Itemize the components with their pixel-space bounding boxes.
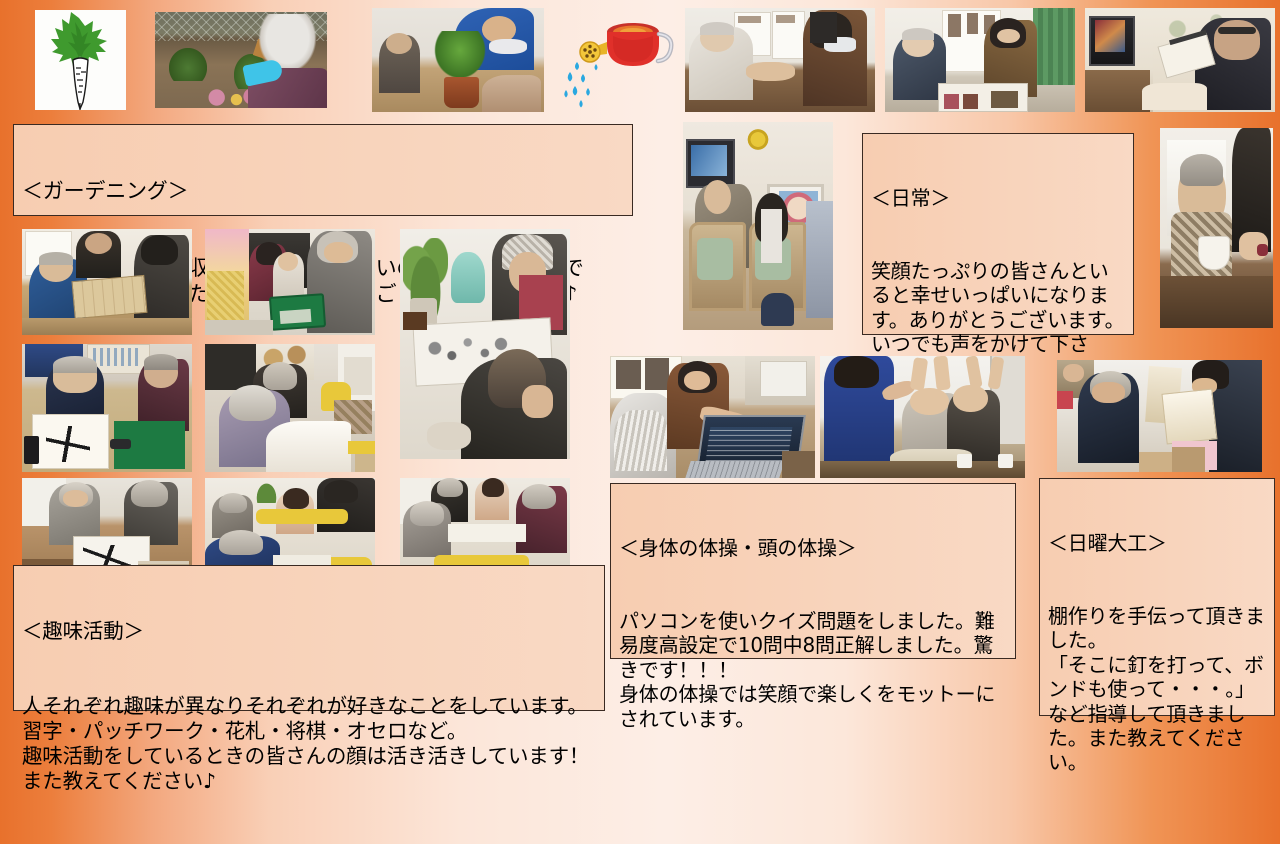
photo-hobby-patchwork <box>205 344 375 472</box>
photo-garden-watering <box>155 12 327 108</box>
photo-care-reading <box>1085 8 1275 112</box>
textbox-nichijou: ＜日常＞ 笑顔たっぷりの皆さんといると幸せいっぱいになります。ありがとうございま… <box>862 133 1134 335</box>
textbox-shumi-body: 人それぞれ趣味が異なりそれぞれが好きなことをしています。習字・パッチワーク・花札… <box>22 694 598 794</box>
photo-care-photobook <box>885 8 1075 112</box>
photo-potting-plant <box>372 8 544 112</box>
textbox-gardening-heading: ＜ガーデニング＞ <box>22 179 626 205</box>
textbox-taisou-body: パソコンを使いクイズ問題をしました。難易度高設定で10問中8問正解しました。驚き… <box>619 609 1009 731</box>
textbox-shumi: ＜趣味活動＞ 人それぞれ趣味が異なりそれぞれが好きなことをしています。習字・パッ… <box>13 565 605 711</box>
photo-tv-watching <box>683 122 833 330</box>
photo-hobby-calligraphy <box>22 344 192 472</box>
photo-arm-exercise <box>820 356 1025 478</box>
photo-care-handshake <box>685 8 875 112</box>
textbox-daiku-heading: ＜日曜大工＞ <box>1048 531 1268 555</box>
textbox-daiku-body: 棚作りを手伝って頂きました。 「そこに釘を打って、ボンドも使って・・・。」など指… <box>1048 604 1268 775</box>
photo-watering-can-clipart <box>563 12 675 110</box>
textbox-taisou-heading: ＜身体の体操・頭の体操＞ <box>619 536 1009 560</box>
textbox-taisou: ＜身体の体操・頭の体操＞ パソコンを使いクイズ問題をしました。難易度高設定で10… <box>610 483 1016 659</box>
textbox-gardening: ＜ガーデニング＞ 去年植えた大根を収穫しました！大きいのから小さいのまで 様々で… <box>13 124 633 216</box>
photo-hobby-shogi <box>22 229 192 335</box>
textbox-daiku: ＜日曜大工＞ 棚作りを手伝って頂きました。 「そこに釘を打って、ボンドも使って・… <box>1039 478 1275 716</box>
photo-hobby-board-green <box>205 229 375 335</box>
textbox-shumi-heading: ＜趣味活動＞ <box>22 619 598 644</box>
photo-diy-shelf <box>1057 360 1262 472</box>
photo-daikon-illustration <box>35 10 126 110</box>
poster-canvas: ＜ガーデニング＞ 去年植えた大根を収穫しました！大きいのから小さいのまで 様々で… <box>0 0 1280 720</box>
photo-hobby-puzzle <box>400 229 570 459</box>
photo-tea-smile <box>1160 128 1273 328</box>
textbox-nichijou-heading: ＜日常＞ <box>871 186 1127 210</box>
photo-quiz-laptop <box>610 356 815 478</box>
